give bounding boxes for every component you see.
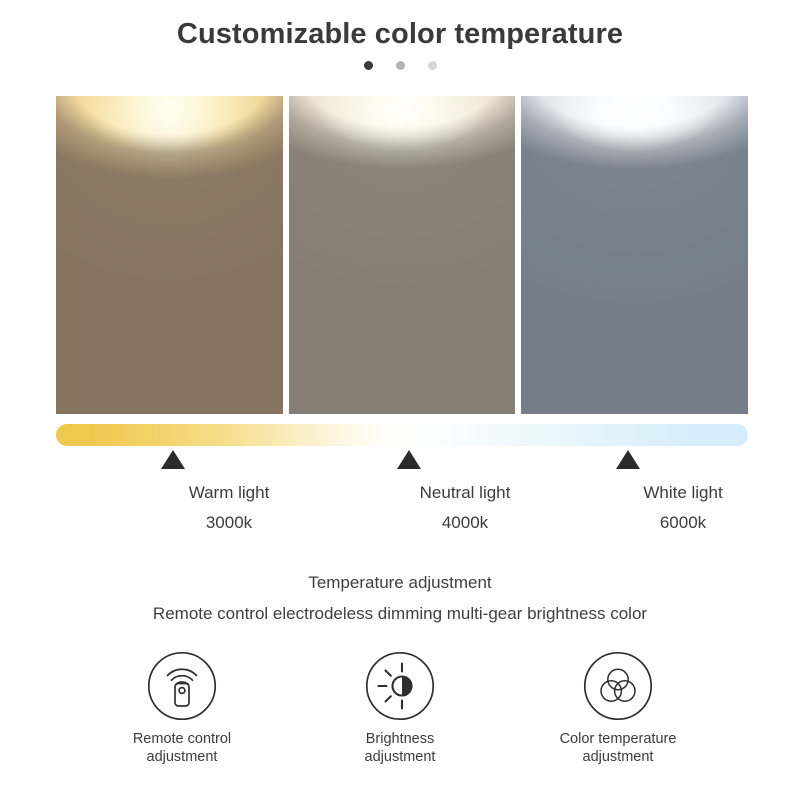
temperature-labels: Warm light 3000k Neutral light 4000k Whi… <box>56 478 748 534</box>
feature-label-brightness: Brightness adjustment <box>365 730 436 766</box>
temperature-label-white: White light 6000k <box>593 478 773 538</box>
marker-white-light[interactable] <box>616 450 640 469</box>
feature-label-color-temperature: Color temperature adjustment <box>560 730 677 766</box>
light-sample-panels <box>56 96 748 414</box>
temperature-kelvin-white: 6000k <box>593 508 773 538</box>
feature-label-remote-control: Remote control adjustment <box>133 730 231 766</box>
temperature-name-neutral: Neutral light <box>375 478 555 508</box>
description-heading: Temperature adjustment <box>0 573 800 593</box>
description-subheading: Remote control electrodeless dimming mul… <box>0 604 800 624</box>
carousel-dot-3[interactable] <box>428 61 437 70</box>
feature-brightness[interactable]: Brightness adjustment <box>325 650 475 766</box>
panel-white-light <box>521 96 748 414</box>
temperature-name-white: White light <box>593 478 773 508</box>
panel-neutral-light <box>289 96 516 414</box>
panel-warm-light <box>56 96 283 414</box>
feature-remote-control[interactable]: Remote control adjustment <box>107 650 257 766</box>
marker-neutral-light[interactable] <box>397 450 421 469</box>
temperature-label-warm: Warm light 3000k <box>139 478 319 538</box>
temperature-kelvin-neutral: 4000k <box>375 508 555 538</box>
color-temperature-gradient-bar[interactable] <box>56 424 748 446</box>
temperature-label-neutral: Neutral light 4000k <box>375 478 555 538</box>
temperature-name-warm: Warm light <box>139 478 319 508</box>
carousel-dot-2[interactable] <box>396 61 405 70</box>
brightness-icon <box>364 650 436 722</box>
color-temperature-icon <box>582 650 654 722</box>
remote-control-icon <box>146 650 218 722</box>
page-title: Customizable color temperature <box>0 18 800 51</box>
marker-warm-light[interactable] <box>161 450 185 469</box>
carousel-dots <box>0 61 800 70</box>
carousel-dot-1[interactable] <box>364 61 373 70</box>
temperature-kelvin-warm: 3000k <box>139 508 319 538</box>
feature-list: Remote control adjustment Brightness adj… <box>0 650 800 766</box>
feature-color-temperature[interactable]: Color temperature adjustment <box>543 650 693 766</box>
